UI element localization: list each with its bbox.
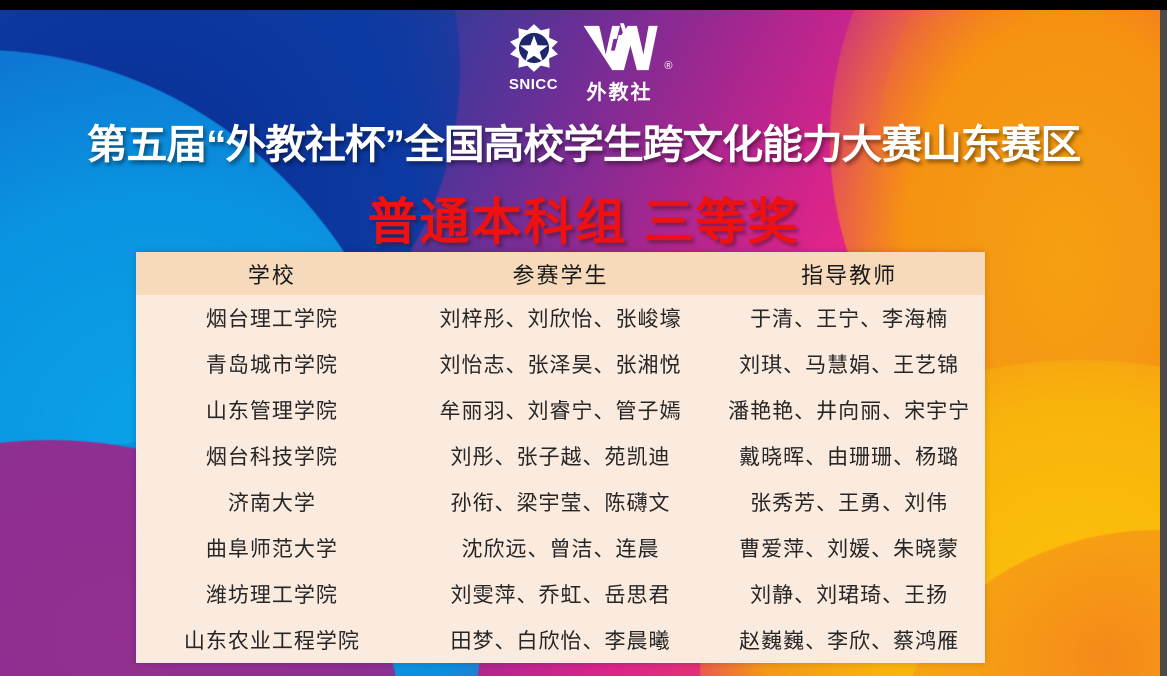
- cell-students: 田梦、白欣怡、李晨曦: [408, 617, 714, 663]
- cell-school: 山东管理学院: [136, 387, 408, 433]
- cell-students: 沈欣远、曾洁、连晨: [408, 525, 714, 571]
- main-title: 第五届“外教社杯”全国高校学生跨文化能力大赛山东赛区: [0, 112, 1167, 170]
- cell-school: 济南大学: [136, 479, 408, 525]
- right-edge-strip: [1160, 10, 1167, 676]
- cell-students: 牟丽羽、刘睿宁、管子嫣: [408, 387, 714, 433]
- cell-school: 曲阜师范大学: [136, 525, 408, 571]
- cell-teachers: 赵巍巍、李欣、蔡鸿雁: [713, 617, 985, 663]
- presentation-slide: SNICC ® 外教社 第五届“外教社杯”全国高校学生跨文化能力大赛山东赛区 普…: [0, 0, 1167, 676]
- cell-school: 青岛城市学院: [136, 341, 408, 387]
- award-title: 普通本科组 三等奖: [0, 182, 1167, 254]
- cell-students: 刘雯萍、乔虹、岳思君: [408, 571, 714, 617]
- award-winners-table: 学校 参赛学生 指导教师 烟台理工学院刘梓彤、刘欣怡、张峻壕于清、王宁、李海楠青…: [136, 252, 985, 663]
- cell-school: 山东农业工程学院: [136, 617, 408, 663]
- cell-students: 孙衔、梁宇莹、陈礴文: [408, 479, 714, 525]
- cell-school: 烟台理工学院: [136, 295, 408, 341]
- cell-teachers: 刘静、刘珺琦、王扬: [713, 571, 985, 617]
- column-header-school: 学校: [136, 252, 408, 295]
- cell-students: 刘怡志、张泽昊、张湘悦: [408, 341, 714, 387]
- table-row: 山东农业工程学院田梦、白欣怡、李晨曦赵巍巍、李欣、蔡鸿雁: [136, 617, 985, 663]
- table-header-row: 学校 参赛学生 指导教师: [136, 252, 985, 295]
- table-row: 山东管理学院牟丽羽、刘睿宁、管子嫣潘艳艳、井向丽、宋宇宁: [136, 387, 985, 433]
- cell-teachers: 曹爱萍、刘媛、朱晓蒙: [713, 525, 985, 571]
- table-row: 烟台科技学院刘彤、张子越、苑凯迪戴晓晖、由珊珊、杨璐: [136, 433, 985, 479]
- cell-students: 刘彤、张子越、苑凯迪: [408, 433, 714, 479]
- cell-students: 刘梓彤、刘欣怡、张峻壕: [408, 295, 714, 341]
- cell-school: 烟台科技学院: [136, 433, 408, 479]
- column-header-students: 参赛学生: [408, 252, 714, 295]
- top-black-bar: [0, 0, 1167, 10]
- cell-school: 潍坊理工学院: [136, 571, 408, 617]
- table-row: 济南大学孙衔、梁宇莹、陈礴文张秀芳、王勇、刘伟: [136, 479, 985, 525]
- table-row: 潍坊理工学院刘雯萍、乔虹、岳思君刘静、刘珺琦、王扬: [136, 571, 985, 617]
- cell-teachers: 戴晓晖、由珊珊、杨璐: [713, 433, 985, 479]
- cell-teachers: 刘琪、马慧娟、王艺锦: [713, 341, 985, 387]
- cell-teachers: 于清、王宁、李海楠: [713, 295, 985, 341]
- table-row: 曲阜师范大学沈欣远、曾洁、连晨曹爱萍、刘媛、朱晓蒙: [136, 525, 985, 571]
- table-row: 烟台理工学院刘梓彤、刘欣怡、张峻壕于清、王宁、李海楠: [136, 295, 985, 341]
- cell-teachers: 潘艳艳、井向丽、宋宇宁: [713, 387, 985, 433]
- cell-teachers: 张秀芳、王勇、刘伟: [713, 479, 985, 525]
- table-body: 烟台理工学院刘梓彤、刘欣怡、张峻壕于清、王宁、李海楠青岛城市学院刘怡志、张泽昊、…: [136, 295, 985, 663]
- column-header-teachers: 指导教师: [713, 252, 985, 295]
- table-row: 青岛城市学院刘怡志、张泽昊、张湘悦刘琪、马慧娟、王艺锦: [136, 341, 985, 387]
